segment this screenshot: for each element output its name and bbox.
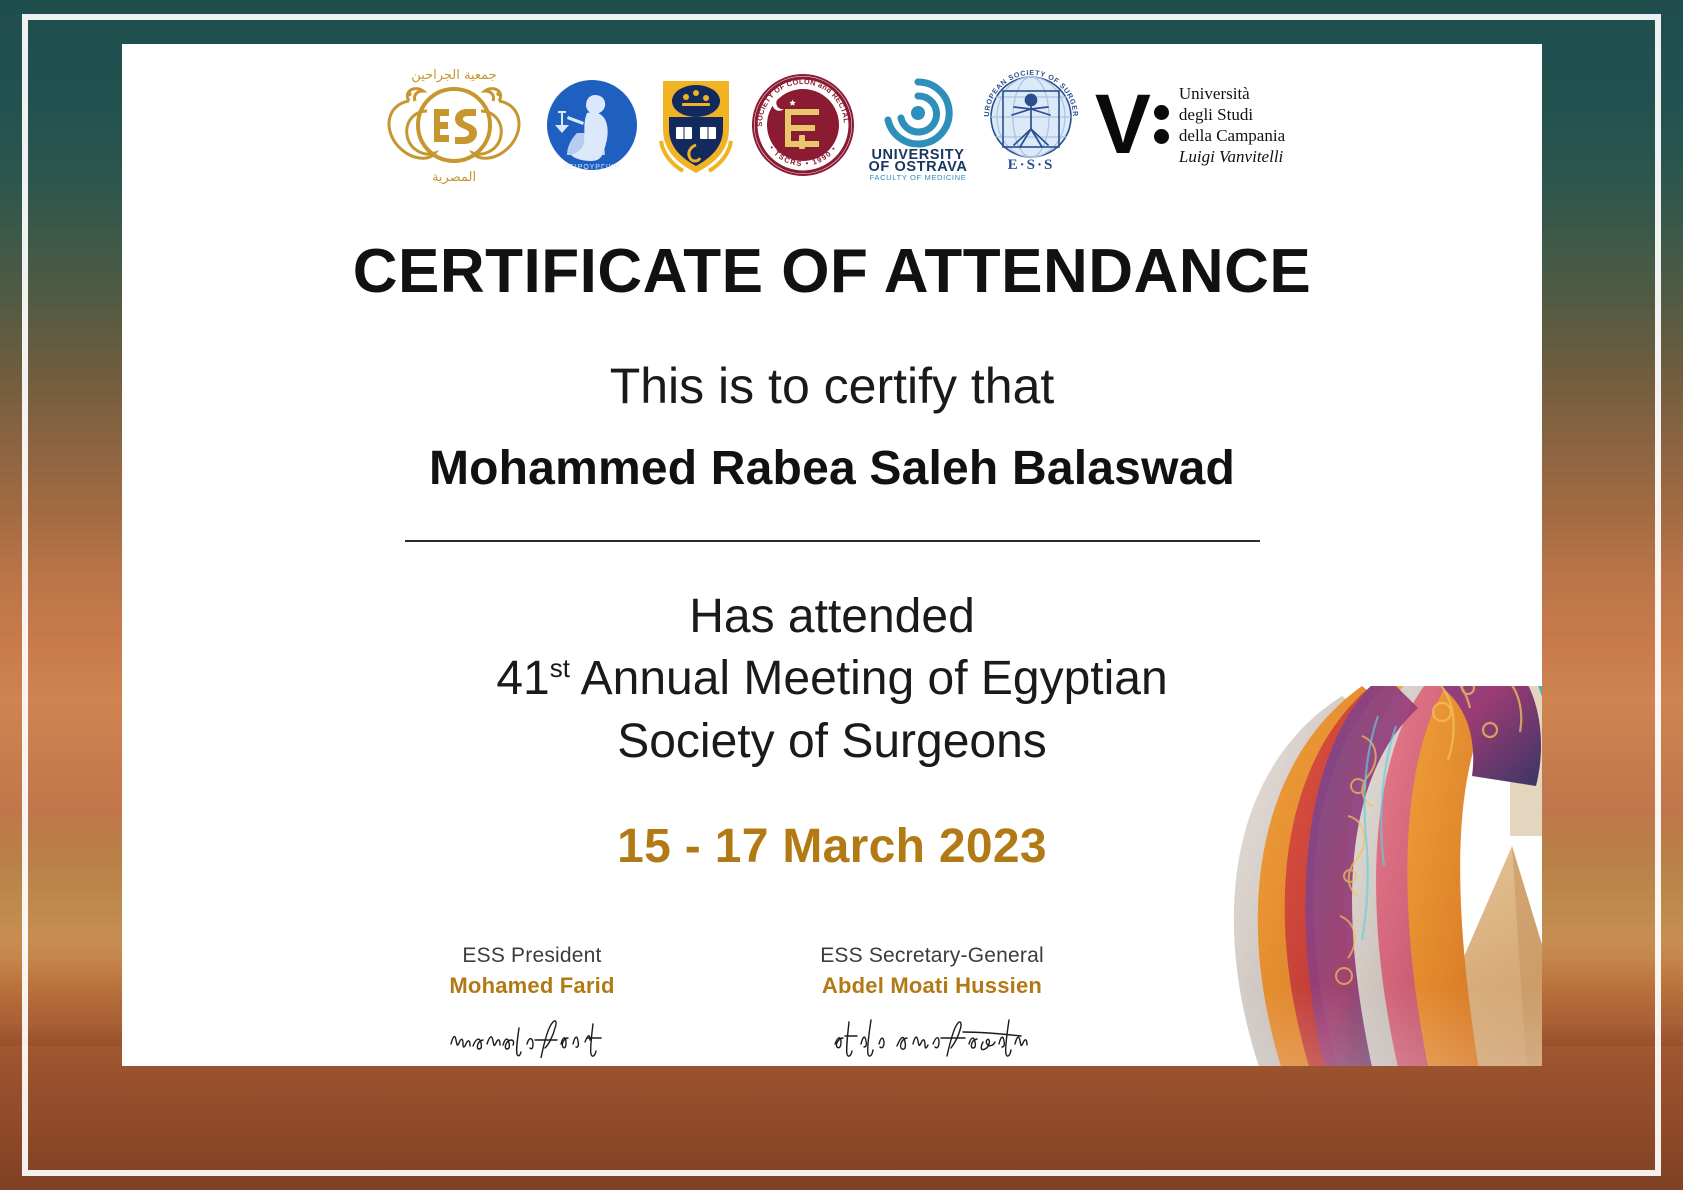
vanvitelli-line3: della Campania (1179, 125, 1285, 146)
signatory-name: Abdel Moati Hussien (782, 973, 1082, 999)
signature-block-secretary-general: ESS Secretary-General Abdel Moati Hussie… (782, 944, 1082, 1057)
vanvitelli-line4: Luigi Vanvitelli (1179, 146, 1285, 167)
signatory-role: ESS President (382, 944, 682, 968)
vanvitelli-mark: V (1095, 92, 1169, 158)
vanvitelli-colon-dots (1154, 105, 1169, 144)
ess-egyptian-society-of-surgeons-logo: جمعية الجراحين المصرية (379, 61, 529, 189)
certify-statement: This is to certify that (122, 357, 1542, 415)
turkish-society-colon-rectal-surgery-logo: TURKISH SOCIETY OF COLON and RECTAL SURG… (751, 73, 855, 177)
signature-block-president: ESS President Mohamed Farid (382, 944, 682, 1057)
hellenic-surgical-society-logo: ΧΕΙΡΟΥΡΓΙΚΗ (543, 73, 641, 177)
vanvitelli-line2: degli Studi (1179, 104, 1285, 125)
signature-mark-secretary-general (782, 1015, 1082, 1057)
signature-mark-president (382, 1015, 682, 1057)
signature-row: ESS President Mohamed Farid (382, 944, 1082, 1057)
signatory-name: Mohamed Farid (382, 973, 682, 999)
svg-text:جمعية الجراحين: جمعية الجراحين (411, 68, 496, 83)
section-divider (405, 540, 1260, 542)
event-date: 15 - 17 March 2023 (122, 819, 1542, 874)
recipient-name: Mohammed Rabea Saleh Balaswad (122, 441, 1542, 496)
university-shield-crest-logo (655, 71, 737, 179)
event-ordinal: 41 (496, 652, 549, 705)
vanvitelli-line1: Università (1179, 83, 1285, 104)
vanvitelli-wordmark: Università degli Studi della Campania Lu… (1179, 83, 1285, 167)
certificate-card: جمعية الجراحين المصرية (122, 44, 1542, 1066)
vanvitelli-v-glyph: V (1095, 92, 1149, 158)
page-title: CERTIFICATE OF ATTENDANCE (122, 236, 1542, 307)
university-of-ostrava-logo: UNIVERSITY OF OSTRAVA FACULTY OF MEDICIN… (869, 69, 967, 181)
partner-logo-row: جمعية الجراحين المصرية (122, 60, 1542, 190)
event-name-line1: 41st Annual Meeting of Egyptian (122, 648, 1542, 710)
event-name-line2: Society of Surgeons (122, 711, 1542, 773)
certificate-body: CERTIFICATE OF ATTENDANCE This is to cer… (122, 194, 1542, 874)
universita-vanvitelli-logo: V Università degli Studi della Campania … (1095, 83, 1285, 167)
svg-text:المصرية: المصرية (432, 170, 476, 185)
attendance-statement: Has attended 41st Annual Meeting of Egyp… (122, 586, 1542, 773)
attended-label: Has attended (122, 586, 1542, 648)
certificate-canvas: جمعية الجراحين المصرية (0, 0, 1683, 1190)
signatory-role: ESS Secretary-General (782, 944, 1082, 968)
svg-text:E·S·S: E·S·S (1008, 157, 1055, 173)
european-society-of-surgery-logo: E·S·S EUROPEAN SOCIETY OF SURGERY (981, 69, 1081, 181)
event-name-part1: Annual Meeting of Egyptian (581, 652, 1168, 705)
event-ordinal-suffix: st (550, 653, 570, 683)
svg-text:ΧΕΙΡΟΥΡΓΙΚΗ: ΧΕΙΡΟΥΡΓΙΚΗ (563, 164, 620, 171)
svg-text:FACULTY OF MEDICINE: FACULTY OF MEDICINE (869, 173, 966, 181)
